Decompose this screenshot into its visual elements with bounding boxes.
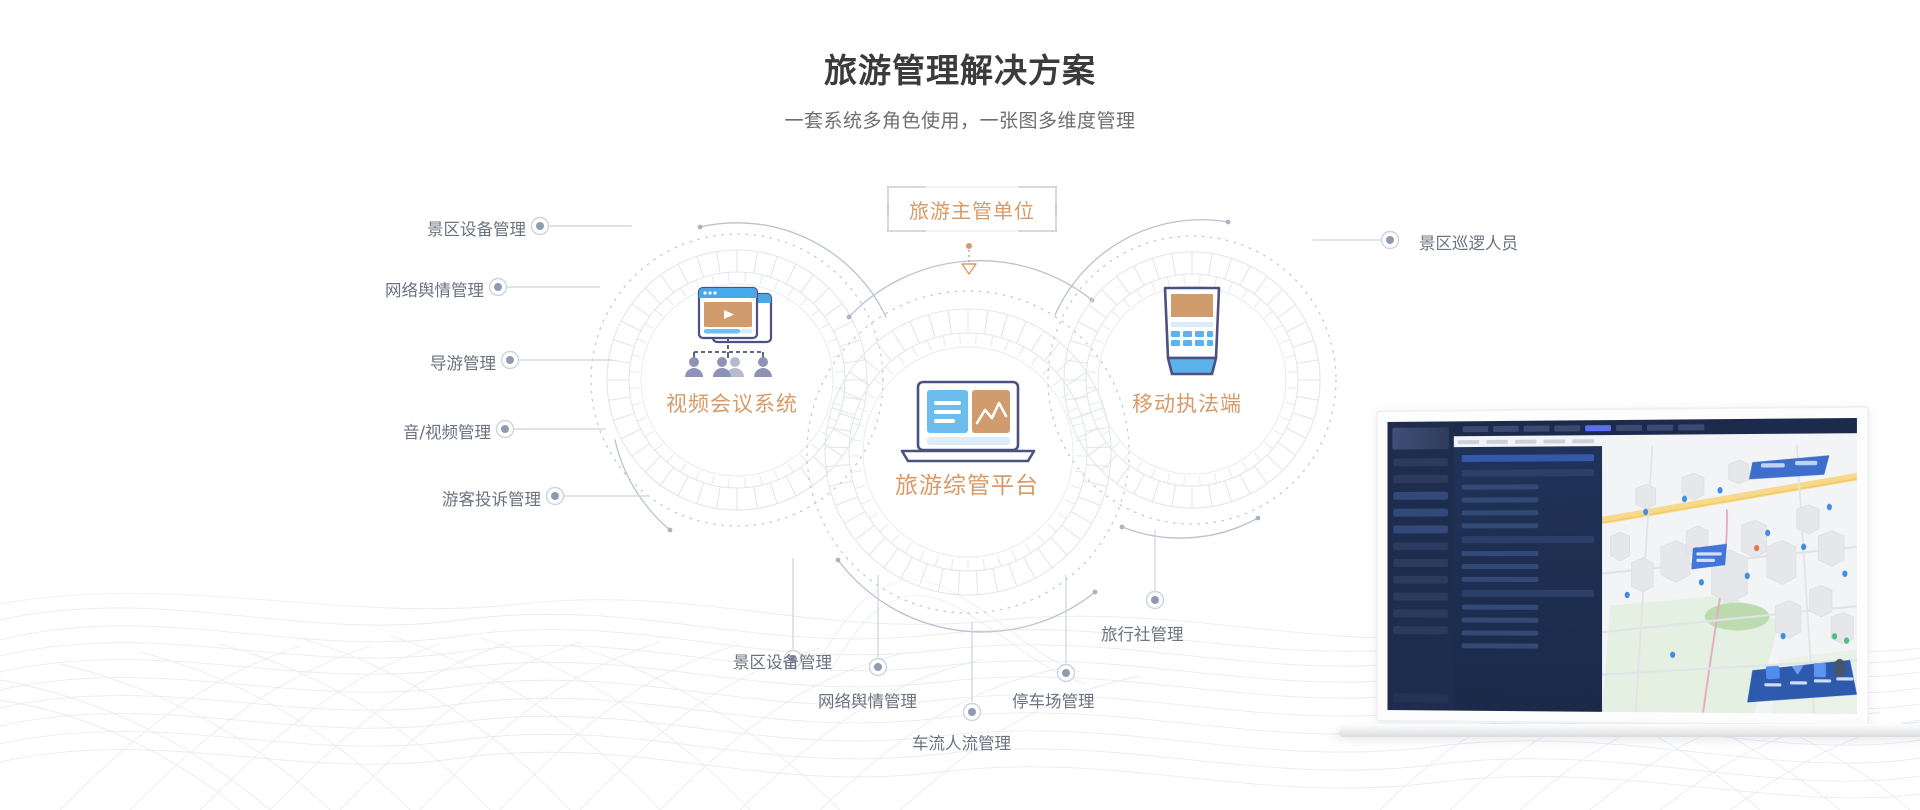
mockup-sidebar-footer (1393, 693, 1448, 702)
mockup-tab (1572, 439, 1594, 443)
mockup-sidebar (1387, 421, 1453, 710)
mockup-sidebar-item (1393, 492, 1448, 500)
hub-label-platform[interactable]: 旅游综管平台 (895, 466, 1039, 500)
bottom-node-0[interactable]: 景区设备管理 (733, 649, 832, 673)
dashboard-screenshot (1387, 418, 1856, 714)
mockup-panel-row (1462, 618, 1539, 623)
video-conference-icon (685, 288, 772, 377)
mockup-tab (1458, 440, 1480, 444)
mockup-3d-map (1602, 444, 1857, 714)
bottom-node-4[interactable]: 旅行社管理 (1101, 621, 1184, 645)
mockup-panel-row (1462, 643, 1539, 648)
bottom-node-3[interactable]: 停车场管理 (1012, 688, 1095, 712)
mockup-nav-item (1647, 424, 1673, 430)
authority-box[interactable]: 旅游主管单位 (888, 187, 1056, 231)
mockup-panel-row (1462, 469, 1594, 477)
left-connectors (506, 226, 648, 496)
mockup-panel-row (1462, 484, 1539, 489)
mockup-panel-row (1462, 590, 1594, 597)
laptop-dashboard-icon (902, 382, 1034, 461)
hub-label-video[interactable]: 视频会议系统 (666, 388, 798, 418)
mockup-tab (1486, 439, 1508, 443)
left-node-2[interactable]: 导游管理 (258, 350, 496, 374)
laptop-base (1336, 724, 1920, 737)
mockup-sidebar-item (1393, 542, 1448, 550)
mockup-sidebar-item (1393, 475, 1448, 483)
mockup-sidebar-item (1393, 609, 1448, 617)
authority-label: 旅游主管单位 (909, 195, 1035, 224)
mockup-panel-row (1462, 577, 1539, 582)
handheld-terminal-icon (1165, 288, 1219, 374)
mockup-panel-row (1462, 551, 1539, 556)
mockup-nav-item (1554, 425, 1580, 431)
bottom-connectors (793, 530, 1155, 702)
mockup-logo (1392, 427, 1449, 449)
bottom-node-2[interactable]: 车流人流管理 (912, 730, 1011, 754)
mockup-sidebar-item (1393, 626, 1448, 634)
hub-ring-video (591, 223, 886, 533)
page-root: 旅游管理解决方案 一套系统多角色使用，一张图多维度管理 (0, 0, 1920, 810)
right-connectors (1313, 232, 1399, 249)
mockup-nav-item (1524, 425, 1550, 431)
mockup-panel-row (1462, 497, 1539, 502)
mockup-main (1454, 418, 1857, 714)
mockup-sidebar-item (1393, 559, 1448, 567)
mockup-nav-item (1463, 426, 1489, 432)
mockup-panel-row (1462, 510, 1539, 515)
mockup-panel-row (1462, 605, 1539, 610)
hub-label-mobile[interactable]: 移动执法端 (1132, 388, 1242, 418)
mockup-panel-row (1462, 523, 1539, 528)
tourism-dashboard-laptop-mockup (1352, 408, 1920, 790)
left-node-3[interactable]: 音/视频管理 (253, 419, 491, 443)
mockup-sidebar-item (1393, 593, 1448, 601)
mockup-sidebar-item (1393, 458, 1448, 466)
mockup-sidebar-item (1393, 576, 1448, 584)
right-node-0[interactable]: 景区巡逻人员 (1419, 230, 1518, 254)
left-node-0[interactable]: 景区设备管理 (288, 216, 526, 240)
left-node-1[interactable]: 网络舆情管理 (246, 277, 484, 301)
mockup-nav-item-active (1585, 425, 1611, 431)
mockup-sidebar-item (1393, 509, 1448, 517)
mockup-panel-row (1462, 630, 1539, 635)
left-node-4[interactable]: 游客投诉管理 (303, 486, 541, 510)
mockup-panel-row (1462, 454, 1594, 462)
mockup-layer-panel (1454, 446, 1602, 712)
mockup-tab (1543, 439, 1565, 443)
mockup-nav-item (1678, 424, 1704, 430)
mockup-nav-item (1493, 425, 1519, 431)
mockup-panel-row (1462, 536, 1594, 543)
left-node-dots (490, 218, 564, 505)
mockup-nav-item (1616, 424, 1642, 430)
authority-connector (962, 243, 976, 274)
mockup-sidebar-item (1393, 525, 1448, 533)
mockup-panel-row (1462, 564, 1539, 569)
mockup-tab (1515, 439, 1537, 443)
laptop-screen (1376, 406, 1869, 727)
bottom-node-1[interactable]: 网络舆情管理 (818, 688, 917, 712)
down-triangle-icon (962, 264, 976, 274)
mockup-body (1454, 444, 1857, 714)
